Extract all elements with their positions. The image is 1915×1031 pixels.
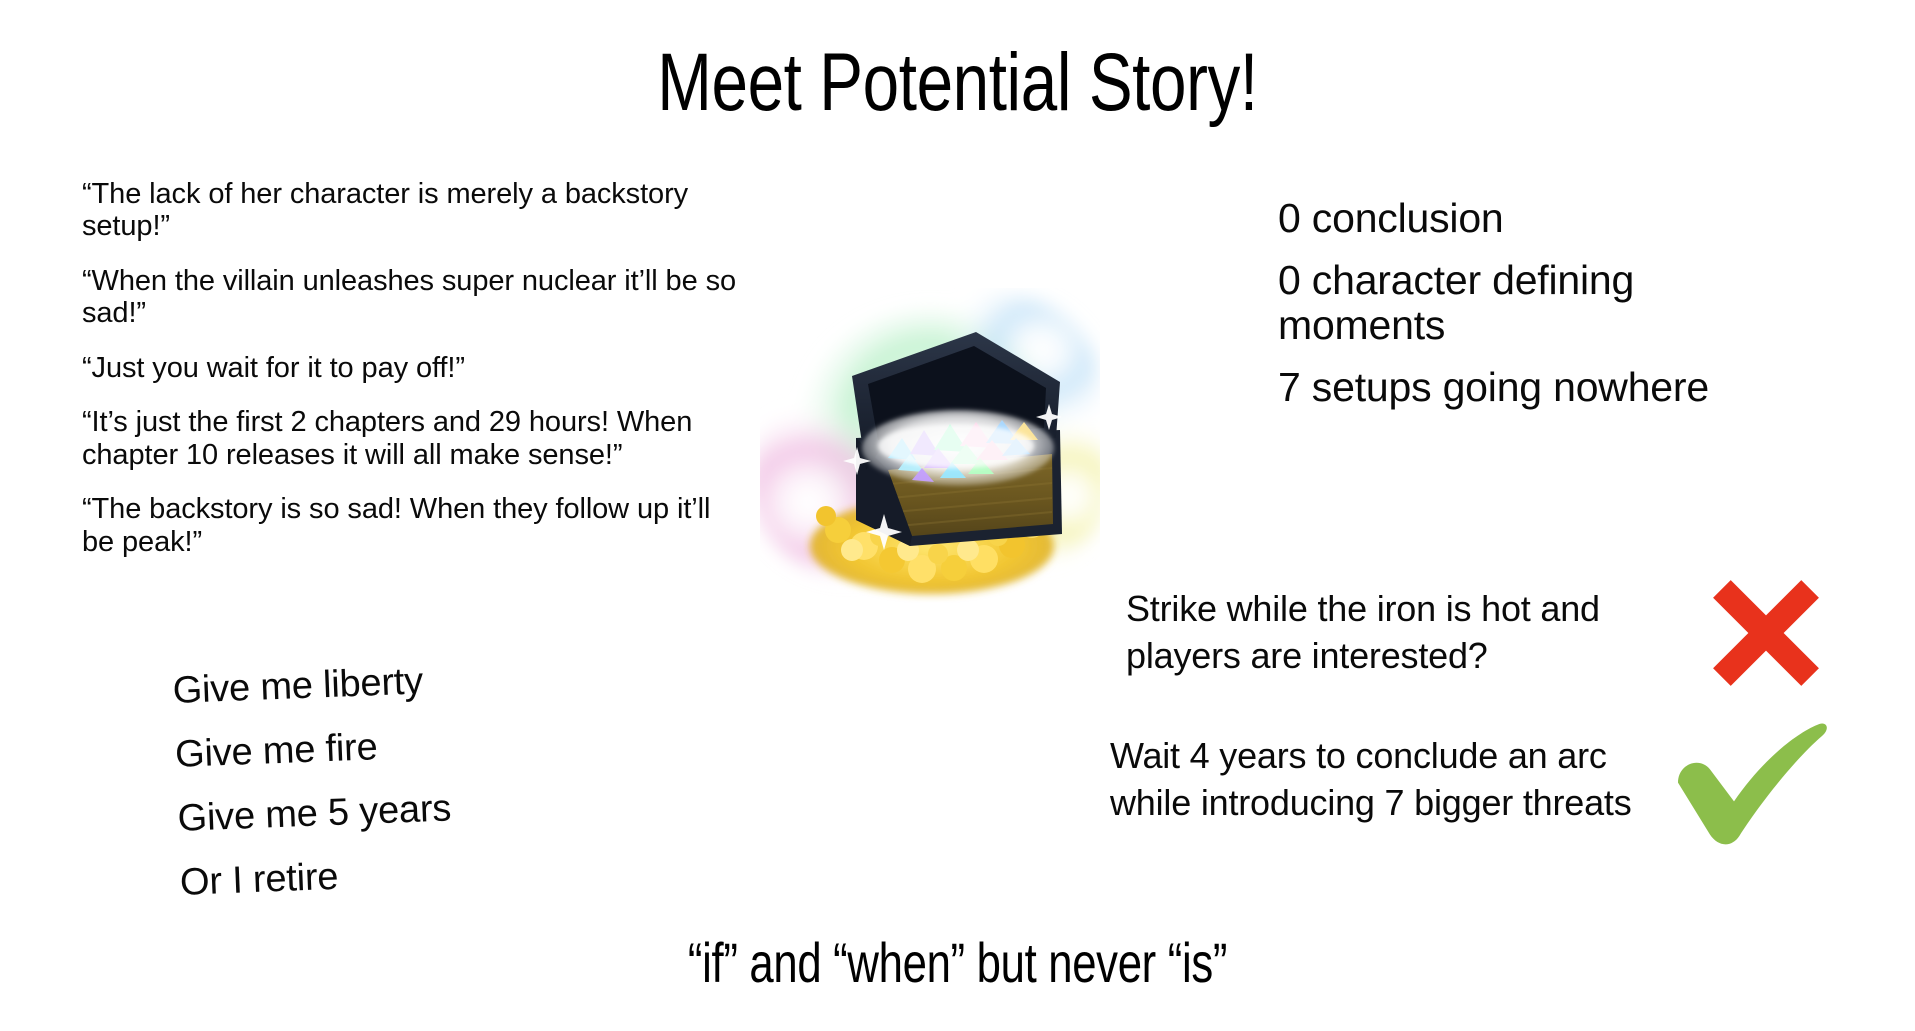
list-item: “The backstory is so sad! When they foll… bbox=[82, 493, 742, 558]
green-check-icon bbox=[1670, 710, 1830, 850]
treasure-chest-illustration bbox=[760, 288, 1100, 603]
fan-quotes-list: “The lack of her character is merely a b… bbox=[82, 178, 742, 558]
list-item: “The lack of her character is merely a b… bbox=[82, 178, 742, 243]
list-item: Give me fire bbox=[174, 725, 449, 773]
red-x-icon bbox=[1686, 570, 1846, 696]
list-item: 7 setups going nowhere bbox=[1278, 365, 1778, 409]
list-item: Give me liberty bbox=[172, 661, 447, 709]
list-item: 0 character defining moments bbox=[1278, 258, 1778, 347]
list-item: Give me 5 years bbox=[177, 789, 452, 837]
choice-row-rejected: Strike while the iron is hot and players… bbox=[1110, 570, 1910, 696]
list-item: Or I retire bbox=[179, 853, 454, 901]
choice-label: Wait 4 years to conclude an arc while in… bbox=[1110, 733, 1670, 827]
page-title: Meet Potential Story! bbox=[192, 42, 1724, 124]
choice-label: Strike while the iron is hot and players… bbox=[1110, 586, 1686, 680]
manifesto-list: Give me liberty Give me fire Give me 5 y… bbox=[172, 661, 454, 901]
list-item: “It’s just the first 2 chapters and 29 h… bbox=[82, 406, 742, 471]
choices-comparison: Strike while the iron is hot and players… bbox=[1110, 570, 1910, 864]
choice-row-chosen: Wait 4 years to conclude an arc while in… bbox=[1110, 710, 1910, 850]
list-item: 0 conclusion bbox=[1278, 196, 1778, 240]
list-item: “When the villain unleashes super nuclea… bbox=[82, 265, 742, 330]
list-item: “Just you wait for it to pay off!” bbox=[82, 352, 742, 384]
story-stats-list: 0 conclusion 0 character defining moment… bbox=[1278, 196, 1778, 409]
bottom-caption: “if” and “when” but never “is” bbox=[211, 935, 1705, 991]
